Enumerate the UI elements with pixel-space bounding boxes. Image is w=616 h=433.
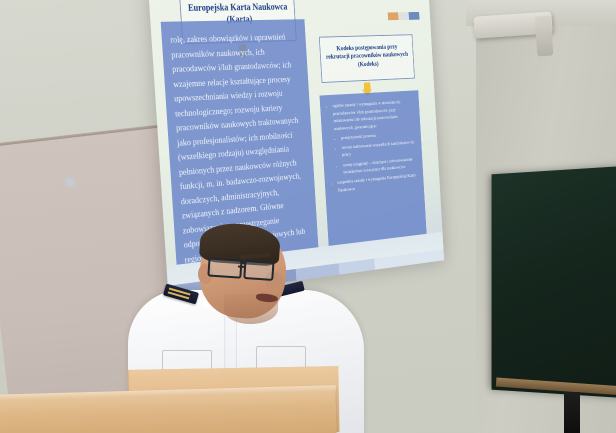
green-chalkboard <box>492 166 616 398</box>
header-box-kodeks: Kodeks postępowania przy rekrutacji prac… <box>319 34 415 83</box>
eu-flag-bar <box>388 12 420 20</box>
slide-sub-bullet-list: przejrzystość procesu równe traktowanie … <box>334 129 417 177</box>
bullet-text: ogólne zasady i wymagania w stosunku do … <box>333 100 401 132</box>
projection-screen-roller-cap <box>535 15 554 56</box>
list-item: ogólne zasady i wymagania w stosunku do … <box>332 98 417 177</box>
eyeglass-lens-right <box>243 260 274 281</box>
slide-bullet-list: ogólne zasady i wymagania w stosunku do … <box>326 98 419 196</box>
lecture-hall-scene: …HR i czego dotyczy (2/2) Europejska Kar… <box>0 0 616 433</box>
chalkboard-post <box>564 392 580 433</box>
eyeglass-lens-left <box>207 257 242 278</box>
